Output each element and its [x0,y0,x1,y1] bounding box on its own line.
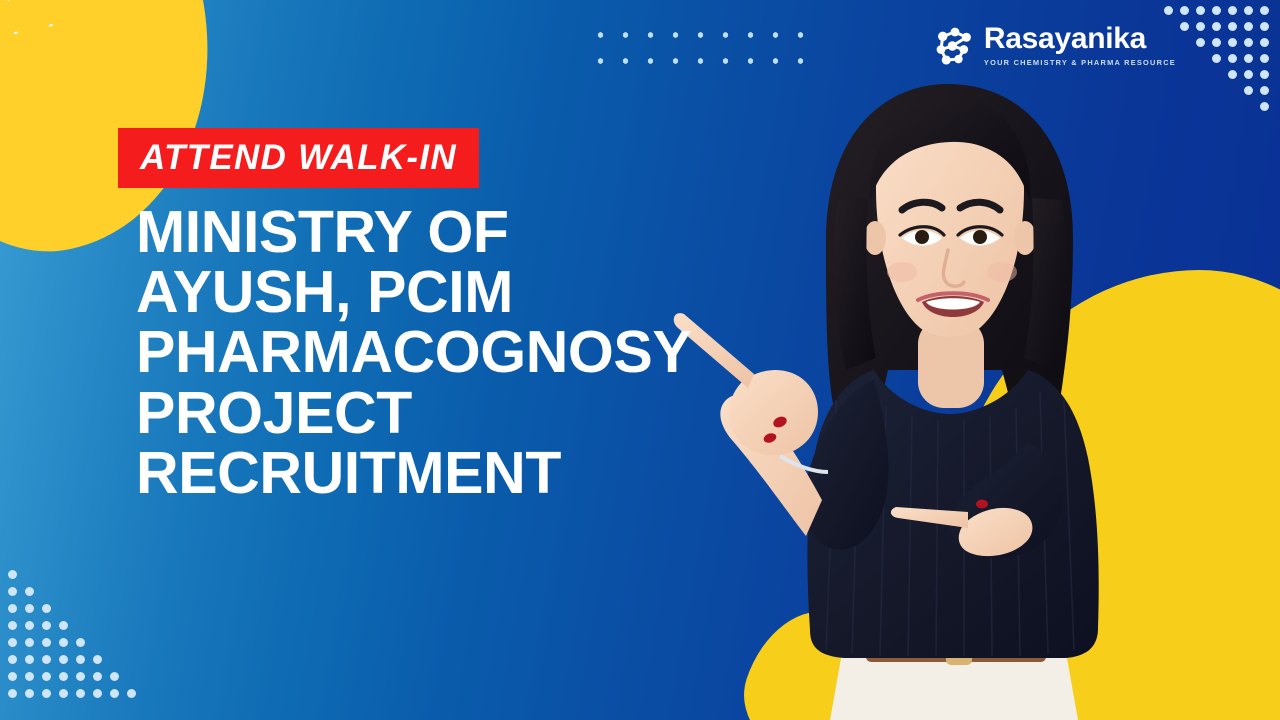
white-dot-grid [0,0,63,61]
brand-tagline: YOUR CHEMISTRY & PHARMA RESOURCE [984,58,1176,67]
promo-banner: ATTEND WALK-IN MINISTRY OF AYUSH, PCIM P… [0,0,1280,720]
headline-line-5: RECRUITMENT [136,443,758,503]
walk-in-badge: ATTEND WALK-IN [118,128,479,188]
dot-staircase-bottom-left [8,570,158,710]
headline-line-1: MINISTRY OF [136,202,758,262]
headline-line-3: PHARMACOGNOSY [136,322,758,382]
brand-logo[interactable]: Rasayanika YOUR CHEMISTRY & PHARMA RESOU… [934,24,1176,67]
headline-line-2: AYUSH, PCIM [136,262,758,322]
headline-block: ATTEND WALK-IN MINISTRY OF AYUSH, PCIM P… [118,128,758,503]
molecule-icon [934,25,976,67]
headline-line-4: PROJECT [136,383,758,443]
brand-name: Rasayanika [984,24,1176,54]
page-title: MINISTRY OF AYUSH, PCIM PHARMACOGNOSY PR… [136,202,758,503]
logo-text: Rasayanika YOUR CHEMISTRY & PHARMA RESOU… [984,24,1176,67]
